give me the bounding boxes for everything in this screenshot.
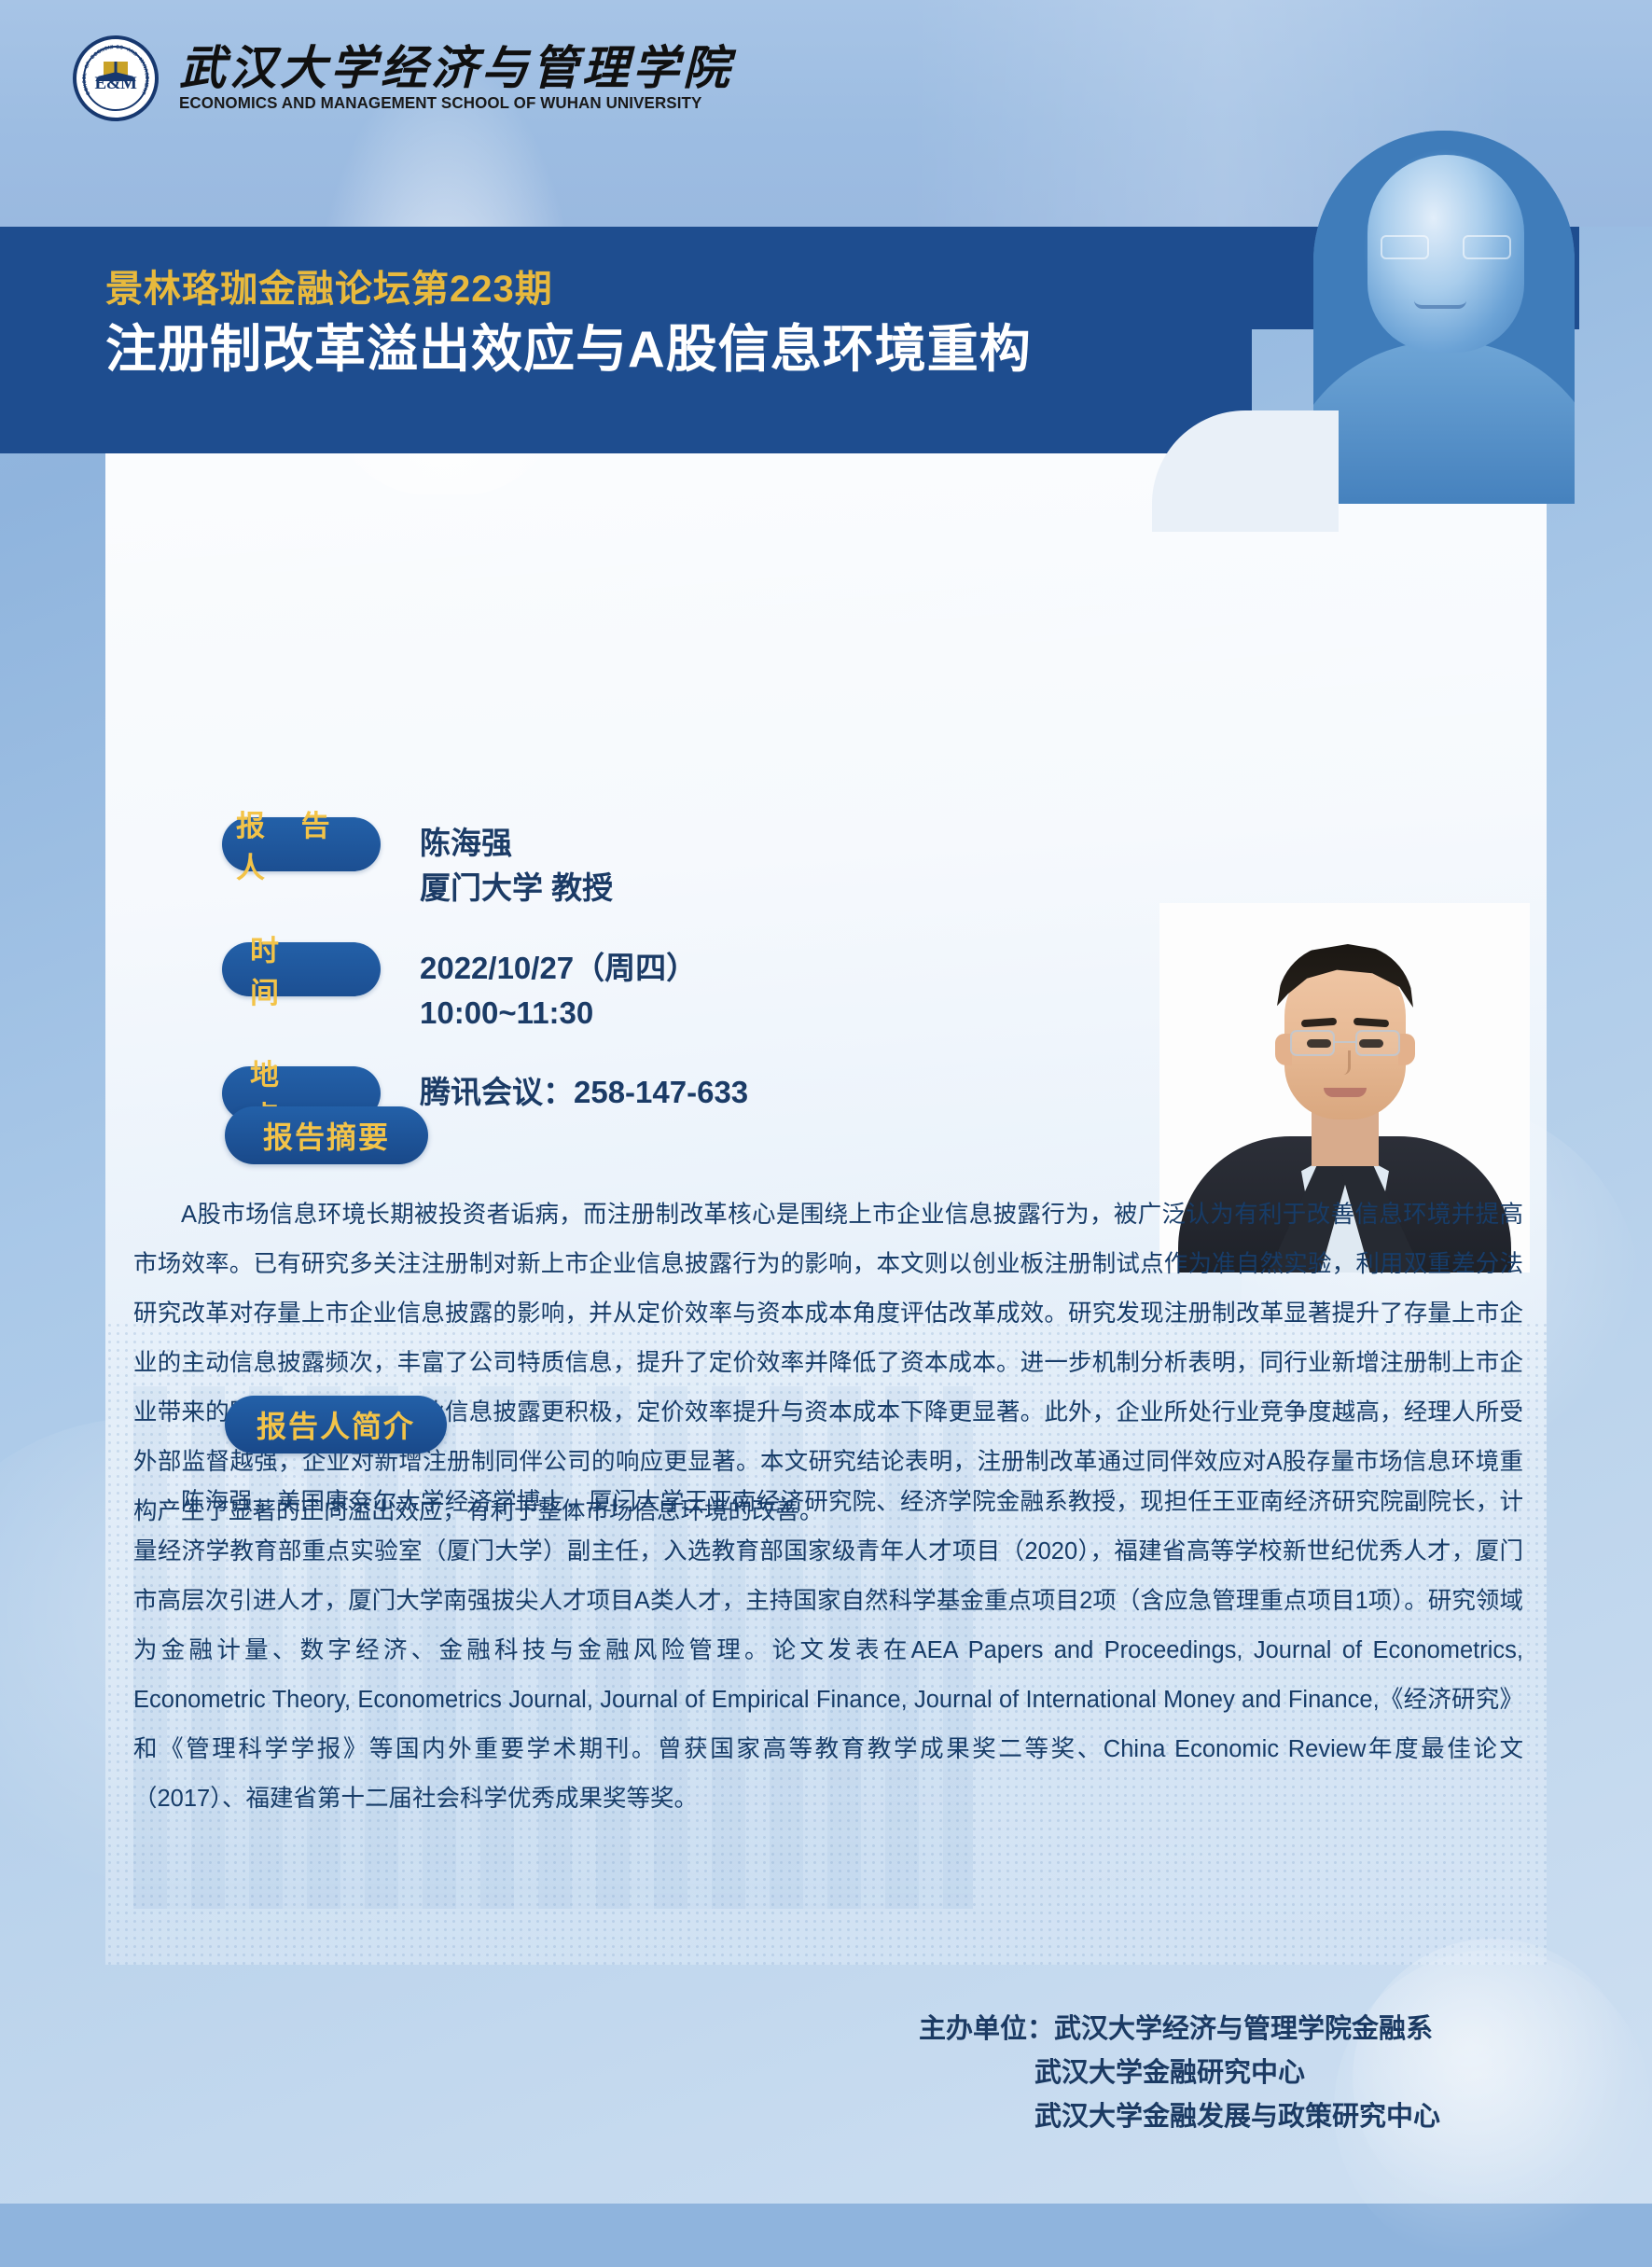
poster-canvas: E&M SCHOOL OF ECONOMICS AND MANAGEMENT 武… bbox=[0, 0, 1652, 2204]
organizers-block: 主办单位：武汉大学经济与管理学院金融系 武汉大学金融研究中心 武汉大学金融发展与… bbox=[919, 2008, 1440, 2139]
bust-mouth bbox=[1414, 300, 1466, 309]
organizer-line-2: 武汉大学金融研究中心 bbox=[919, 2051, 1440, 2095]
section-badge-abstract-text: 报告摘要 bbox=[263, 1114, 390, 1157]
footer: 主办单位：武汉大学经济与管理学院金融系 武汉大学金融研究中心 武汉大学金融发展与… bbox=[0, 1995, 1652, 2204]
forum-series-label: 景林珞珈金融论坛第223期 bbox=[105, 269, 1159, 310]
school-name-block: 武汉大学经济与管理学院 ECONOMICS AND MANAGEMENT SCH… bbox=[179, 44, 733, 114]
photo-nose bbox=[1340, 1050, 1351, 1075]
section-badge-bio: 报告人简介 bbox=[225, 1396, 447, 1453]
university-crest-icon: E&M SCHOOL OF ECONOMICS AND MANAGEMENT bbox=[73, 35, 159, 121]
content-sheet: 报 告 人 陈海强 厦门大学 教授 时 间 2022/10/27（周四） 10:… bbox=[105, 453, 1547, 1965]
time-value: 2022/10/27（周四） 10:00~11:30 bbox=[420, 942, 697, 1036]
label-speaker-text: 报 告 人 bbox=[222, 802, 381, 886]
info-row-speaker: 报 告 人 陈海强 厦门大学 教授 bbox=[222, 817, 931, 911]
event-time: 10:00~11:30 bbox=[420, 991, 697, 1036]
statue-bust-graphic bbox=[1313, 131, 1575, 504]
label-time-text: 时 间 bbox=[222, 927, 381, 1011]
speaker-name: 陈海强 bbox=[420, 821, 613, 866]
photo-ear-right bbox=[1398, 1034, 1415, 1065]
label-speaker: 报 告 人 bbox=[222, 817, 381, 871]
event-info-list: 报 告 人 陈海强 厦门大学 教授 时 间 2022/10/27（周四） 10:… bbox=[222, 817, 931, 1152]
section-badge-abstract: 报告摘要 bbox=[225, 1106, 428, 1164]
school-name-en: ECONOMICS AND MANAGEMENT SCHOOL OF WUHAN… bbox=[179, 93, 716, 113]
photo-mouth bbox=[1324, 1088, 1367, 1097]
bust-glasses-icon bbox=[1381, 235, 1511, 259]
title-block: 景林珞珈金融论坛第223期 注册制改革溢出效应与A股信息环境重构 bbox=[105, 269, 1159, 382]
speaker-value: 陈海强 厦门大学 教授 bbox=[420, 817, 613, 911]
event-date: 2022/10/27（周四） bbox=[420, 946, 697, 991]
school-logo: E&M SCHOOL OF ECONOMICS AND MANAGEMENT 武… bbox=[73, 35, 733, 121]
bio-text: 陈海强，美国康奈尔大学经济学博士，厦门大学王亚南经济研究院、经济学院金融系教授，… bbox=[133, 1478, 1523, 1824]
crest-ring-text: SCHOOL OF ECONOMICS AND MANAGEMENT bbox=[76, 38, 156, 118]
school-name-cn: 武汉大学经济与管理学院 bbox=[179, 44, 733, 93]
venue-value: 腾讯会议：258-147-633 bbox=[420, 1066, 748, 1115]
lecture-title: 注册制改革溢出效应与A股信息环境重构 bbox=[105, 317, 1159, 382]
meeting-id: 腾讯会议：258-147-633 bbox=[420, 1070, 748, 1115]
label-time: 时 间 bbox=[222, 942, 381, 996]
info-row-time: 时 间 2022/10/27（周四） 10:00~11:30 bbox=[222, 942, 931, 1036]
organizer-line-3: 武汉大学金融发展与政策研究中心 bbox=[919, 2095, 1440, 2139]
organizer-line-1: 主办单位：武汉大学经济与管理学院金融系 bbox=[919, 2008, 1440, 2051]
section-badge-bio-text: 报告人简介 bbox=[257, 1403, 415, 1446]
speaker-affiliation: 厦门大学 教授 bbox=[420, 866, 613, 911]
